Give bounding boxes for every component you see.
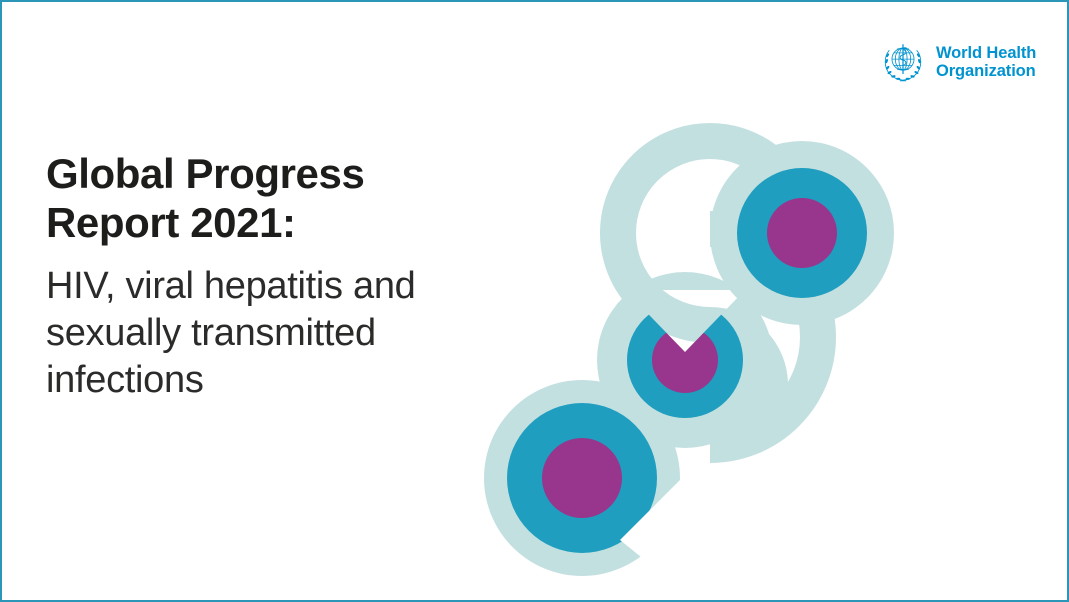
who-emblem-icon [879,38,927,86]
report-cover-page: World Health Organization Global Progres… [0,0,1069,602]
report-title: Global Progress Report 2021: [46,150,476,247]
who-wordmark-line1: World Health [936,44,1036,62]
who-wordmark-line2: Organization [936,62,1036,80]
who-wordmark: World Health Organization [936,44,1036,81]
ring-motif-bottom [484,380,680,576]
report-subtitle: HIV, viral hepatitis and sexually transm… [46,263,476,403]
cover-graphic [472,120,902,590]
title-block: Global Progress Report 2021: HIV, viral … [46,150,476,404]
who-logo: World Health Organization [879,38,1036,86]
